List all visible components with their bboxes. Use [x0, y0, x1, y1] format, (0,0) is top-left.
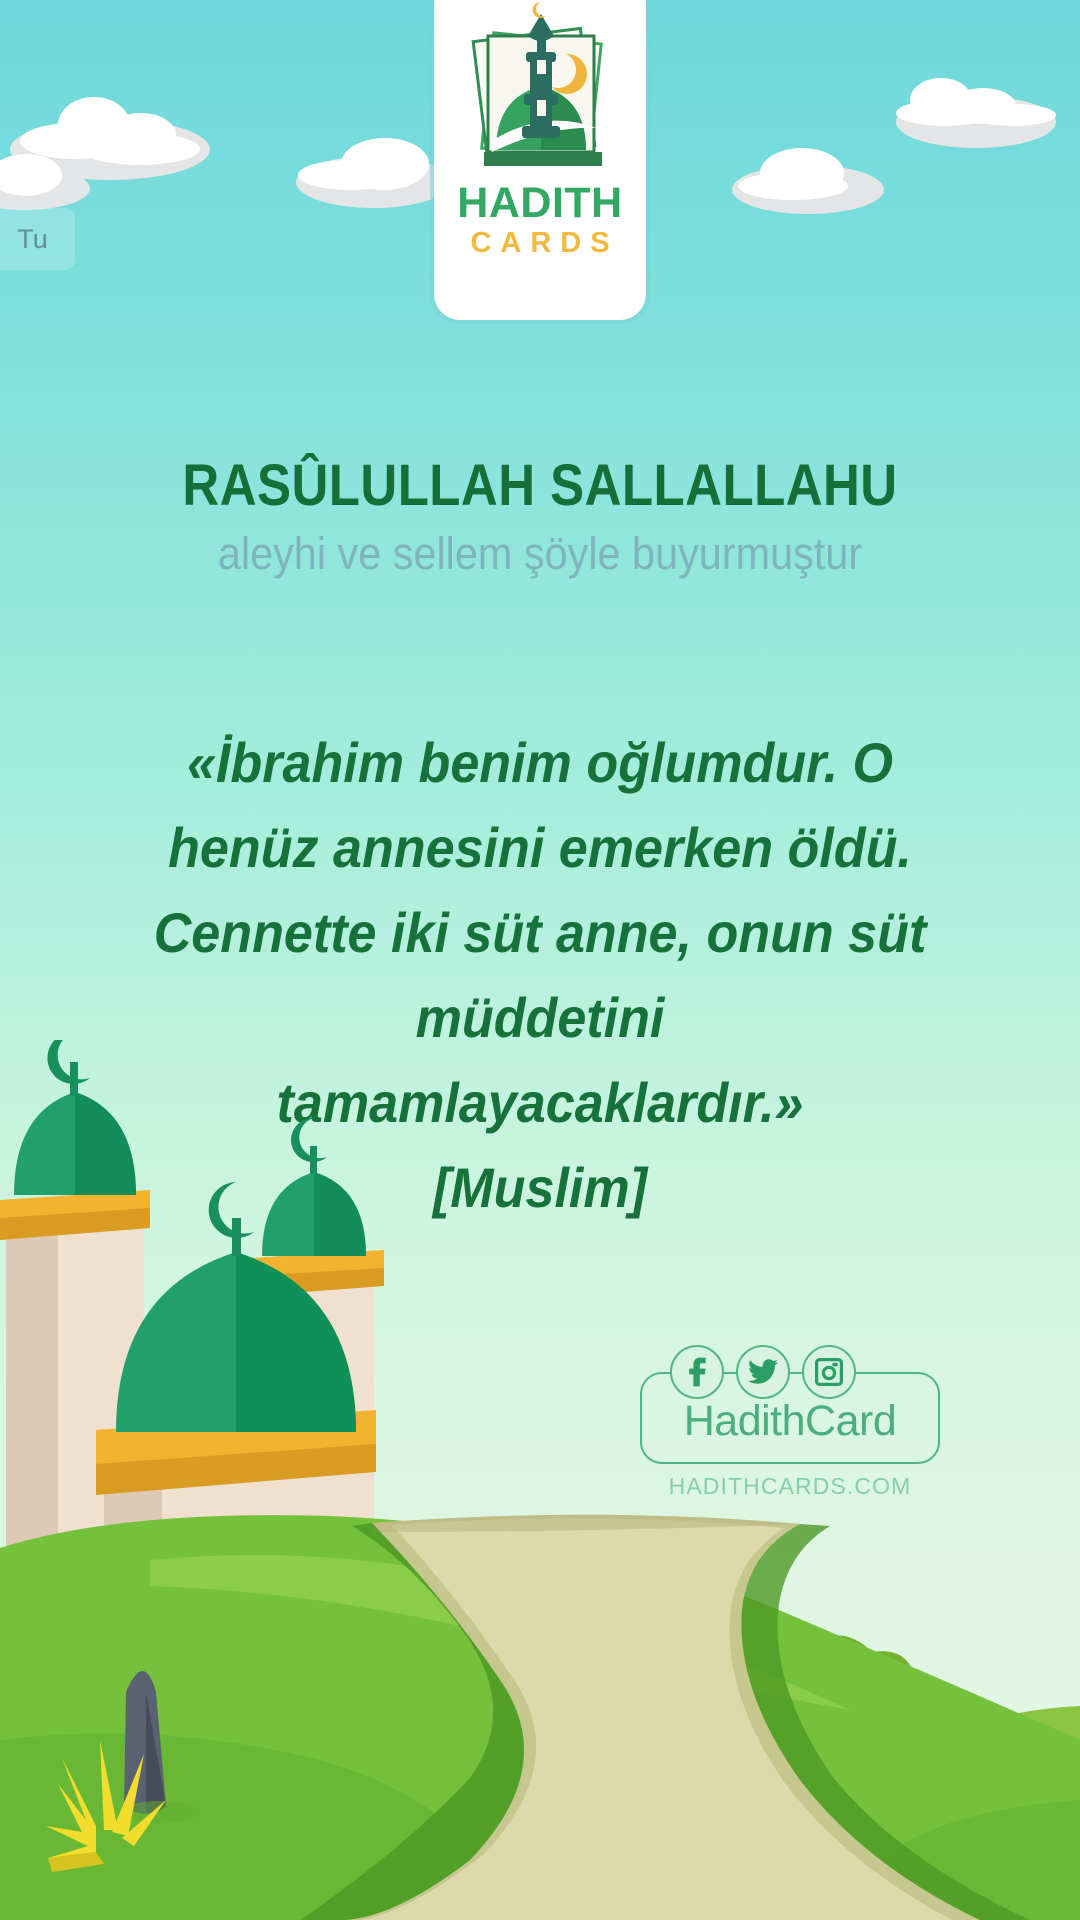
quote-line: «İbrahim benim oğlumdur. O — [126, 720, 954, 805]
quote-line: Cennette iki süt anne, onun süt — [126, 890, 954, 975]
twitter-icon[interactable] — [736, 1345, 790, 1399]
social-badge[interactable]: HadithCard HADITHCARDS.COM — [640, 1345, 945, 1515]
cloud-top-center — [296, 136, 451, 208]
cloud-puff — [80, 133, 200, 165]
social-brand-name: HadithCard — [640, 1397, 940, 1446]
cloud-puff — [298, 160, 402, 190]
logo-card[interactable]: HADITH CARDS — [434, 0, 646, 320]
cloud-far-left — [0, 150, 90, 210]
twitter-glyph — [748, 1359, 778, 1385]
cloud-top-right-upper — [896, 76, 1056, 148]
instagram-icon[interactable] — [802, 1345, 856, 1399]
logo-cards-text: CARDS — [434, 225, 646, 261]
social-icon-group — [670, 1345, 856, 1399]
page-subtitle: aleyhi ve sellem şöyle buyurmuştur — [43, 528, 1037, 580]
language-badge[interactable]: Tu — [0, 208, 75, 270]
logo-hadith-text: HADITH — [434, 182, 646, 225]
social-domain: HADITHCARDS.COM — [640, 1473, 940, 1500]
logo-wordmark: HADITH CARDS — [434, 182, 646, 261]
cloud-puff — [738, 172, 848, 200]
quote-line: henüz annesini emerken öldü. — [126, 805, 954, 890]
facebook-icon[interactable] — [670, 1345, 724, 1399]
cloud-puff — [970, 104, 1056, 126]
page-title: RASÛLULLAH SALLALLAHU — [65, 452, 1015, 519]
hadith-card: Tu — [0, 0, 1080, 1920]
cloud-right-lower — [732, 146, 884, 214]
instagram-glyph — [815, 1358, 843, 1386]
facebook-glyph — [684, 1357, 710, 1387]
language-badge-label: Tu — [17, 224, 48, 255]
logo-mosque-icon — [434, 0, 646, 200]
